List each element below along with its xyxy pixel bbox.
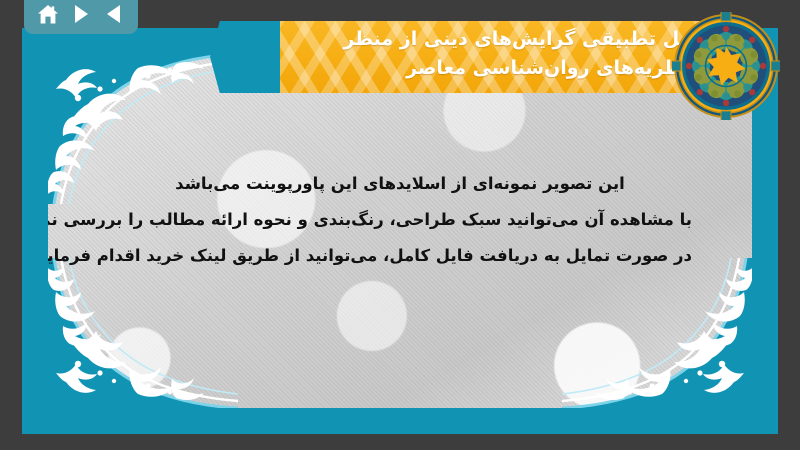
- navigation-toolbar: [24, 0, 138, 34]
- slide-title: تحلیل تطبیقی گرایش‌های دینی از منظر نظری…: [290, 25, 716, 84]
- title-line-2: نظریه‌های روان‌شناسی معاصر: [290, 54, 716, 83]
- home-button[interactable]: [34, 1, 62, 27]
- forward-button[interactable]: [67, 1, 95, 27]
- arabesque-corner-ornament-icon: [48, 258, 238, 408]
- arabesque-corner-ornament-icon: [562, 258, 752, 408]
- home-icon: [37, 4, 59, 25]
- body-line-1: این تصویر نمونه‌ای از اسلایدهای این پاور…: [108, 166, 692, 202]
- title-band-arrow: [210, 21, 280, 93]
- slide-content-area: این تصویر نمونه‌ای از اسلایدهای این پاور…: [48, 54, 752, 408]
- back-arrow-icon: [107, 5, 120, 23]
- title-line-1: تحلیل تطبیقی گرایش‌های دینی از منظر: [290, 25, 716, 54]
- slide-viewer: این تصویر نمونه‌ای از اسلایدهای این پاور…: [0, 0, 800, 450]
- slide-title-band: تحلیل تطبیقی گرایش‌های دینی از منظر نظری…: [210, 21, 730, 93]
- slide-body-text: این تصویر نمونه‌ای از اسلایدهای این پاور…: [108, 166, 692, 274]
- islamic-medallion-icon: [672, 12, 780, 120]
- back-button[interactable]: [100, 1, 128, 27]
- body-line-2: با مشاهده آن می‌توانید سبک طراحی، رنگ‌بن…: [108, 202, 692, 238]
- forward-arrow-icon: [75, 5, 88, 23]
- body-line-3: در صورت تمایل به دریافت فایل کامل، می‌تو…: [108, 238, 692, 274]
